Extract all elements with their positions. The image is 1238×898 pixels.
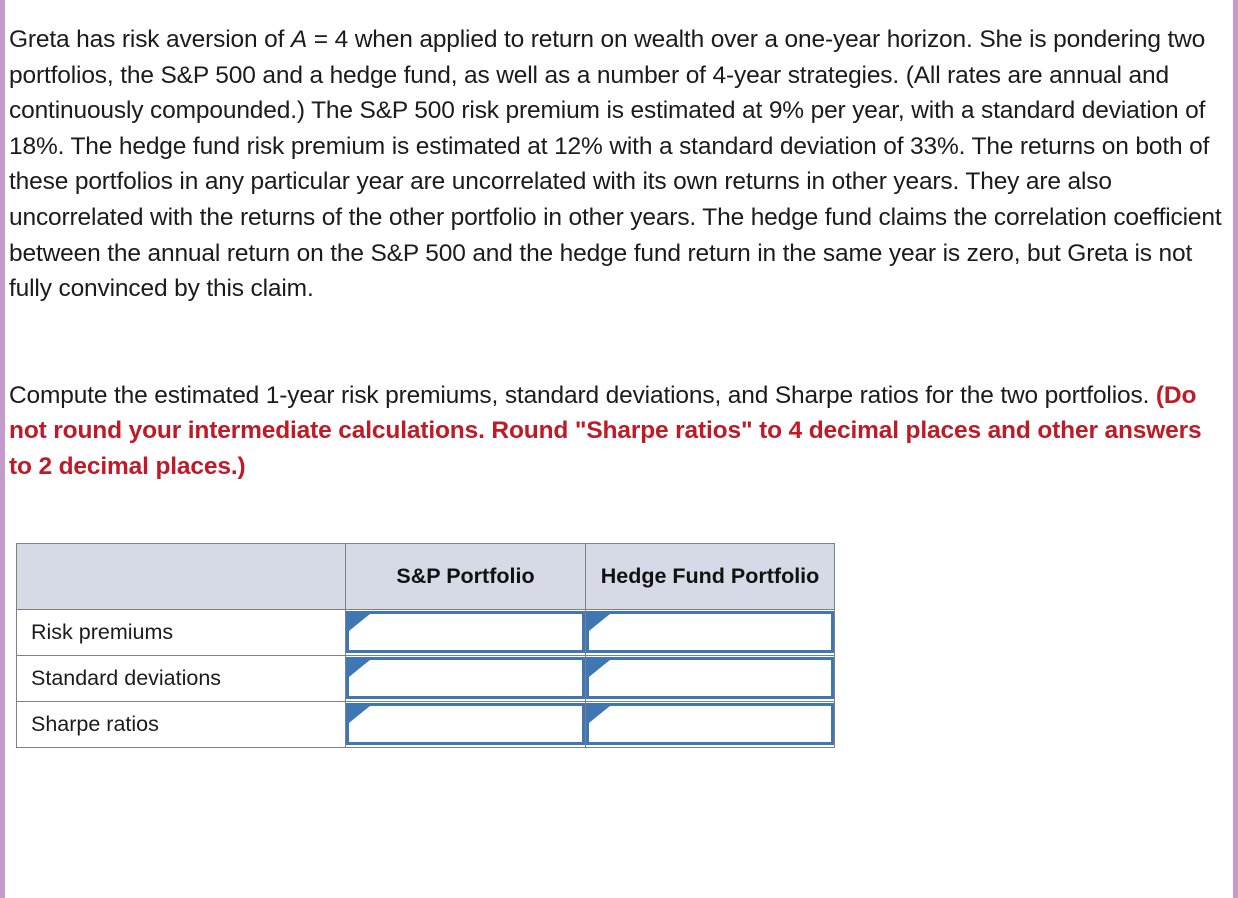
problem-text-after-variable: = 4 when applied to return on wealth ove… bbox=[9, 26, 1222, 302]
table-row: Risk premiums bbox=[17, 609, 835, 655]
row-label-risk-premiums: Risk premiums bbox=[17, 609, 346, 655]
header-sp-portfolio: S&P Portfolio bbox=[346, 543, 586, 609]
triangle-flag-icon bbox=[349, 706, 370, 723]
table-row: Sharpe ratios bbox=[17, 701, 835, 747]
question-page: Greta has risk aversion of A = 4 when ap… bbox=[5, 0, 1233, 898]
cell-risk-premiums-sp[interactable] bbox=[346, 609, 586, 655]
answer-table-head: S&P Portfolio Hedge Fund Portfolio bbox=[17, 543, 835, 609]
cell-sharpe-ratios-sp[interactable] bbox=[346, 701, 586, 747]
triangle-flag-icon bbox=[589, 706, 610, 723]
answer-table-wrapper: S&P Portfolio Hedge Fund Portfolio Risk … bbox=[16, 543, 1225, 748]
input-risk-premiums-sp[interactable] bbox=[346, 611, 585, 653]
header-blank-cell bbox=[17, 543, 346, 609]
question-prompt-paragraph: Compute the estimated 1-year risk premiu… bbox=[9, 378, 1225, 485]
question-prompt-text: Compute the estimated 1-year risk premiu… bbox=[9, 382, 1156, 409]
paragraph-spacer bbox=[9, 307, 1225, 378]
problem-text-before-variable: Greta has risk aversion of bbox=[9, 26, 291, 53]
triangle-flag-icon bbox=[589, 614, 610, 631]
problem-statement-paragraph: Greta has risk aversion of A = 4 when ap… bbox=[9, 22, 1225, 307]
cell-sharpe-ratios-hf[interactable] bbox=[586, 701, 835, 747]
risk-aversion-variable: A bbox=[291, 26, 307, 53]
table-row: Standard deviations bbox=[17, 655, 835, 701]
row-label-sharpe-ratios: Sharpe ratios bbox=[17, 701, 346, 747]
triangle-flag-icon bbox=[349, 614, 370, 631]
input-standard-deviations-hf[interactable] bbox=[586, 657, 834, 699]
answer-table-body: Risk premiums S bbox=[17, 609, 835, 747]
triangle-flag-icon bbox=[349, 660, 370, 677]
right-page-rail bbox=[1233, 0, 1238, 898]
triangle-flag-icon bbox=[589, 660, 610, 677]
answer-table-header-row: S&P Portfolio Hedge Fund Portfolio bbox=[17, 543, 835, 609]
cell-risk-premiums-hf[interactable] bbox=[586, 609, 835, 655]
input-sharpe-ratios-hf[interactable] bbox=[586, 703, 834, 745]
input-standard-deviations-sp[interactable] bbox=[346, 657, 585, 699]
input-sharpe-ratios-sp[interactable] bbox=[346, 703, 585, 745]
row-label-standard-deviations: Standard deviations bbox=[17, 655, 346, 701]
cell-standard-deviations-sp[interactable] bbox=[346, 655, 586, 701]
cell-standard-deviations-hf[interactable] bbox=[586, 655, 835, 701]
input-risk-premiums-hf[interactable] bbox=[586, 611, 834, 653]
header-hedge-fund-portfolio: Hedge Fund Portfolio bbox=[586, 543, 835, 609]
answer-table: S&P Portfolio Hedge Fund Portfolio Risk … bbox=[16, 543, 835, 748]
